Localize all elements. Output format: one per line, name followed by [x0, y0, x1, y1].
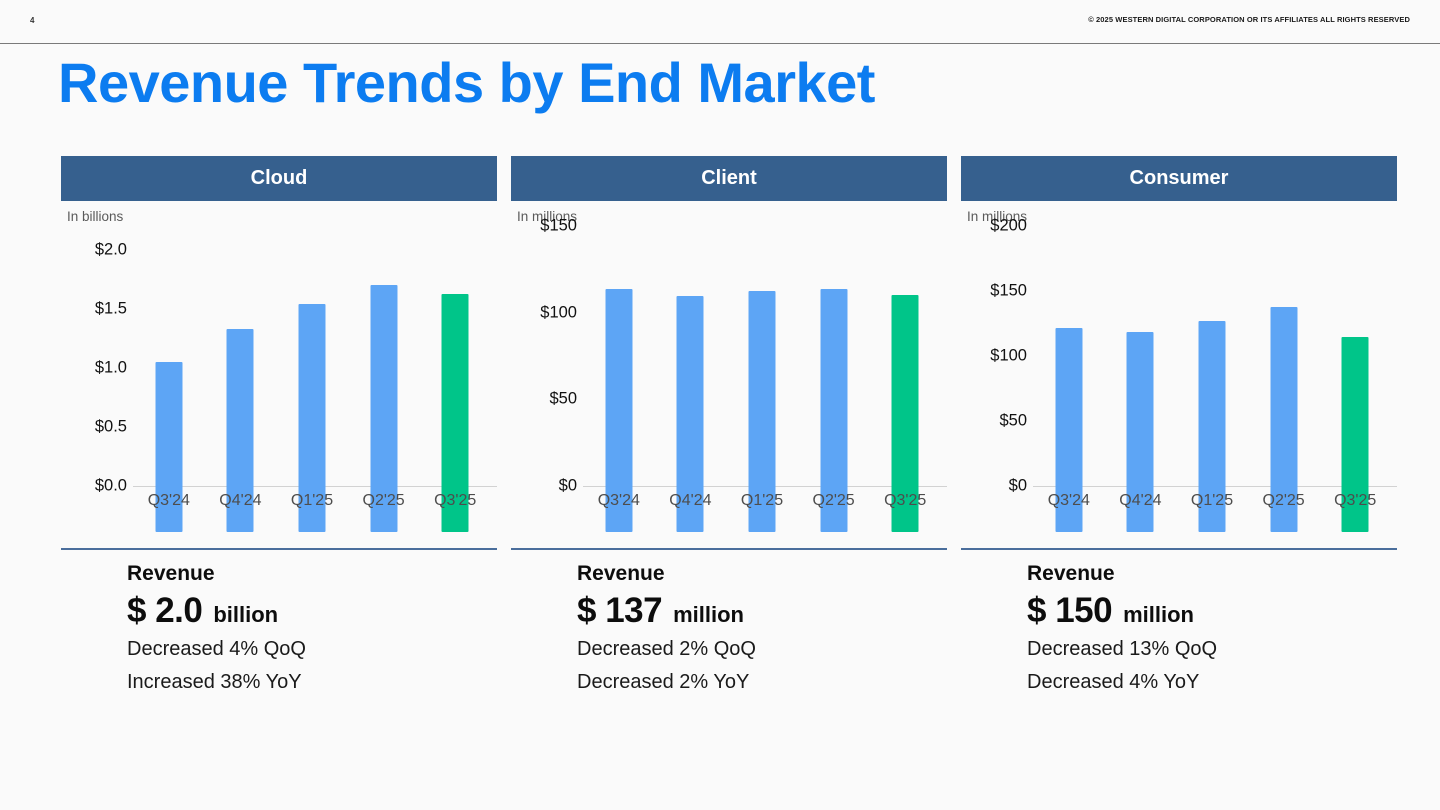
- y-axis-ticks: $0$50$100$150$200: [961, 226, 1027, 486]
- x-axis-tick-label: Q2'25: [812, 492, 854, 510]
- x-axis-tick-label: Q1'25: [1191, 492, 1233, 510]
- y-axis-tick-label: $200: [990, 217, 1027, 236]
- summary-client: Revenue $ 137 million Decreased 2% QoQ D…: [511, 548, 947, 697]
- panel-header-cloud: Cloud: [61, 156, 497, 201]
- copyright-notice: © 2025 WESTERN DIGITAL CORPORATION OR IT…: [1088, 15, 1410, 24]
- y-axis-tick-label: $50: [999, 412, 1027, 431]
- x-axis-tick-label: Q4'24: [1119, 492, 1161, 510]
- x-axis-tick-label: Q2'25: [362, 492, 404, 510]
- x-axis-tick-label: Q3'25: [434, 492, 476, 510]
- panel-header-consumer: Consumer: [961, 156, 1397, 201]
- x-axis-tick-label: Q4'24: [219, 492, 261, 510]
- y-axis-tick-label: $1.0: [95, 358, 127, 377]
- summary-unit: billion: [213, 602, 278, 628]
- units-label: In millions: [967, 209, 1397, 224]
- summary-note-yoy: Increased 38% YoY: [127, 668, 497, 697]
- bar-chart-client: $0$50$100$150 Q3'24Q4'24Q1'25Q2'25Q3'25: [511, 226, 947, 532]
- summary-value: $ 2.0: [127, 591, 202, 631]
- summary-note-yoy: Decreased 4% YoY: [1027, 668, 1397, 697]
- panel-title: Client: [701, 167, 757, 190]
- y-axis-tick-label: $50: [549, 390, 577, 409]
- summary-note-qoq: Decreased 4% QoQ: [127, 635, 497, 664]
- x-axis-tick-label: Q3'25: [1334, 492, 1376, 510]
- panel-title: Cloud: [251, 167, 308, 190]
- page-title: Revenue Trends by End Market: [58, 52, 875, 115]
- units-label: In billions: [67, 209, 497, 224]
- y-axis-tick-label: $0: [1009, 477, 1027, 496]
- y-axis-tick-label: $0.5: [95, 417, 127, 436]
- panel-header-client: Client: [511, 156, 947, 201]
- y-axis-tick-label: $150: [540, 217, 577, 236]
- x-axis-tick-label: Q3'24: [148, 492, 190, 510]
- summary-label: Revenue: [127, 562, 497, 586]
- bar-chart-cloud: $0.0$0.5$1.0$1.5$2.0 Q3'24Q4'24Q1'25Q2'2…: [61, 226, 497, 532]
- slide-header-strip: 4 © 2025 WESTERN DIGITAL CORPORATION OR …: [0, 0, 1440, 44]
- x-axis-tick-label: Q1'25: [291, 492, 333, 510]
- y-axis-tick-label: $0.0: [95, 477, 127, 496]
- units-label: In millions: [517, 209, 947, 224]
- y-axis-ticks: $0$50$100$150: [511, 226, 577, 486]
- market-column-cloud: Cloud In billions $0.0$0.5$1.0$1.5$2.0 Q…: [61, 156, 497, 532]
- bar-chart-consumer: $0$50$100$150$200 Q3'24Q4'24Q1'25Q2'25Q3…: [961, 226, 1397, 532]
- summary-label: Revenue: [577, 562, 947, 586]
- summary-unit: million: [673, 602, 744, 628]
- page-number: 4: [30, 16, 34, 25]
- y-axis-tick-label: $2.0: [95, 240, 127, 259]
- x-axis-tick-label: Q2'25: [1262, 492, 1304, 510]
- panel-title: Consumer: [1130, 167, 1229, 190]
- market-column-consumer: Consumer In millions $0$50$100$150$200 Q…: [961, 156, 1397, 532]
- summary-value: $ 150: [1027, 591, 1112, 631]
- x-axis-tick-label: Q3'25: [884, 492, 926, 510]
- y-axis-tick-label: $100: [540, 303, 577, 322]
- y-axis-tick-label: $100: [990, 347, 1027, 366]
- summary-consumer: Revenue $ 150 million Decreased 13% QoQ …: [961, 548, 1397, 697]
- y-axis-ticks: $0.0$0.5$1.0$1.5$2.0: [61, 226, 127, 486]
- y-axis-tick-label: $0: [559, 477, 577, 496]
- x-axis-tick-label: Q3'24: [1048, 492, 1090, 510]
- x-axis-tick-label: Q4'24: [669, 492, 711, 510]
- summary-label: Revenue: [1027, 562, 1397, 586]
- summary-value: $ 137: [577, 591, 662, 631]
- market-column-client: Client In millions $0$50$100$150 Q3'24Q4…: [511, 156, 947, 532]
- summary-cloud: Revenue $ 2.0 billion Decreased 4% QoQ I…: [61, 548, 497, 697]
- summary-note-qoq: Decreased 2% QoQ: [577, 635, 947, 664]
- summary-note-yoy: Decreased 2% YoY: [577, 668, 947, 697]
- summary-note-qoq: Decreased 13% QoQ: [1027, 635, 1397, 664]
- summary-unit: million: [1123, 602, 1194, 628]
- y-axis-tick-label: $150: [990, 282, 1027, 301]
- x-axis-tick-label: Q1'25: [741, 492, 783, 510]
- y-axis-tick-label: $1.5: [95, 299, 127, 318]
- x-axis-tick-label: Q3'24: [598, 492, 640, 510]
